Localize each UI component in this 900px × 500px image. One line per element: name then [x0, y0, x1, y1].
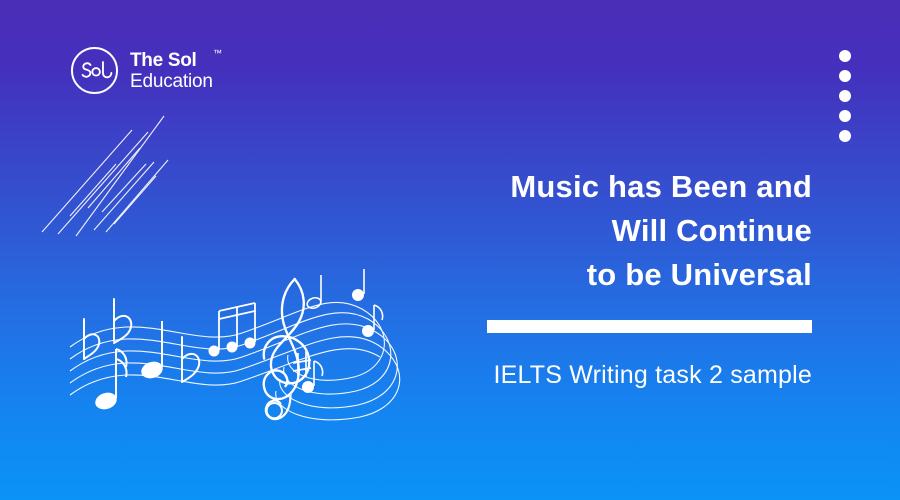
headline-line-2: Will Continue: [472, 209, 812, 253]
banner-text-block: Music has Been and Will Continue to be U…: [472, 165, 812, 390]
dot-1: [839, 50, 851, 62]
promo-banner: The Sol™ Education: [0, 0, 900, 500]
dot-2: [839, 70, 851, 82]
brand-name-line-1: The Sol™: [130, 51, 213, 70]
dot-4: [839, 110, 851, 122]
title-divider-bar: [487, 320, 812, 333]
trademark-symbol: ™: [213, 49, 222, 58]
brand-wordmark: The Sol™ Education: [130, 51, 213, 91]
page-title: Music has Been and Will Continue to be U…: [472, 165, 812, 297]
diagonal-lines-decoration-icon: [36, 112, 186, 242]
dot-column-decoration: [839, 50, 851, 142]
brand-name-line-2: Education: [130, 72, 213, 91]
headline-line-3: to be Universal: [472, 253, 812, 297]
dot-5: [839, 130, 851, 142]
dot-3: [839, 90, 851, 102]
sol-circle-logo-icon: [68, 44, 121, 97]
music-staff-notes-icon: [62, 255, 412, 440]
banner-subtitle: IELTS Writing task 2 sample: [472, 361, 812, 390]
headline-line-1: Music has Been and: [472, 165, 812, 209]
brand-logo[interactable]: The Sol™ Education: [68, 44, 213, 97]
